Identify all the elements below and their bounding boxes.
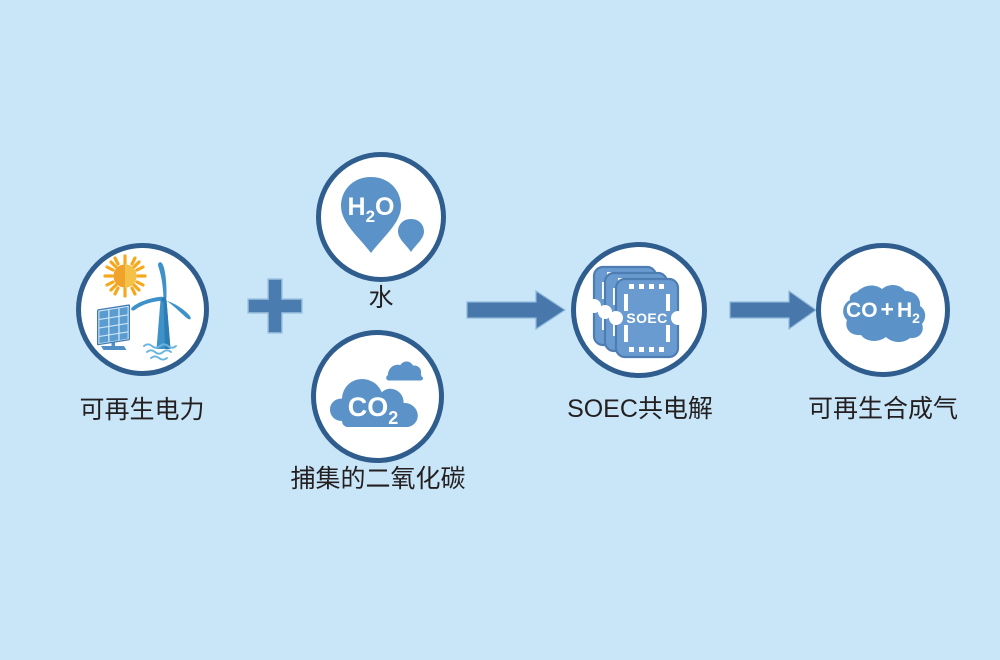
arrow-inputs-to-soec	[466, 289, 566, 331]
caption-renewable-syngas: 可再生合成气	[783, 396, 983, 424]
syngas-formula-label: CO+H2	[846, 296, 920, 326]
renewable-power-icon	[81, 248, 204, 371]
syngas-formula-sub: 2	[912, 310, 920, 326]
soec-chip-label: SOEC	[626, 310, 667, 326]
sun-icon	[105, 256, 145, 296]
co2-cloud-icon: CO2	[316, 335, 439, 458]
diagram-canvas: 可再生电力 H2O 水 CO2 捕集的二氧化碳	[0, 0, 1000, 660]
plus-icon	[246, 277, 304, 335]
caption-captured-co2: 捕集的二氧化碳	[268, 466, 488, 494]
solar-panel-icon	[97, 304, 130, 350]
node-water[interactable]: H2O	[316, 152, 446, 282]
water-formula-h: H	[348, 193, 366, 221]
soec-stack-icon: SOEC	[576, 247, 702, 373]
node-soec-coelectrolysis[interactable]: SOEC	[571, 242, 707, 378]
syngas-formula-plus: +	[881, 296, 894, 322]
syngas-formula-co: CO	[846, 299, 878, 322]
co2-formula-main: CO	[348, 392, 389, 422]
node-renewable-syngas[interactable]: CO+H2	[816, 243, 950, 377]
syngas-cloud-icon: CO+H2	[821, 248, 945, 372]
arrow-right-icon	[466, 289, 566, 331]
water-formula-sub: 2	[366, 207, 375, 226]
caption-renewable-power: 可再生电力	[42, 397, 242, 425]
co2-formula-sub: 2	[388, 408, 398, 428]
node-captured-co2[interactable]: CO2	[311, 330, 444, 463]
node-renewable-power[interactable]	[76, 243, 209, 376]
syngas-formula-h: H	[897, 299, 912, 322]
caption-soec-coelectrolysis: SOEC共电解	[540, 396, 740, 424]
arrow-soec-to-syngas	[729, 289, 817, 331]
soec-cell-front: SOEC	[609, 279, 685, 357]
water-formula-o: O	[375, 193, 394, 221]
arrow-right-icon	[729, 289, 817, 331]
water-droplet-icon: H2O	[321, 157, 441, 277]
caption-water: 水	[321, 285, 441, 313]
plus-operator	[246, 277, 304, 335]
